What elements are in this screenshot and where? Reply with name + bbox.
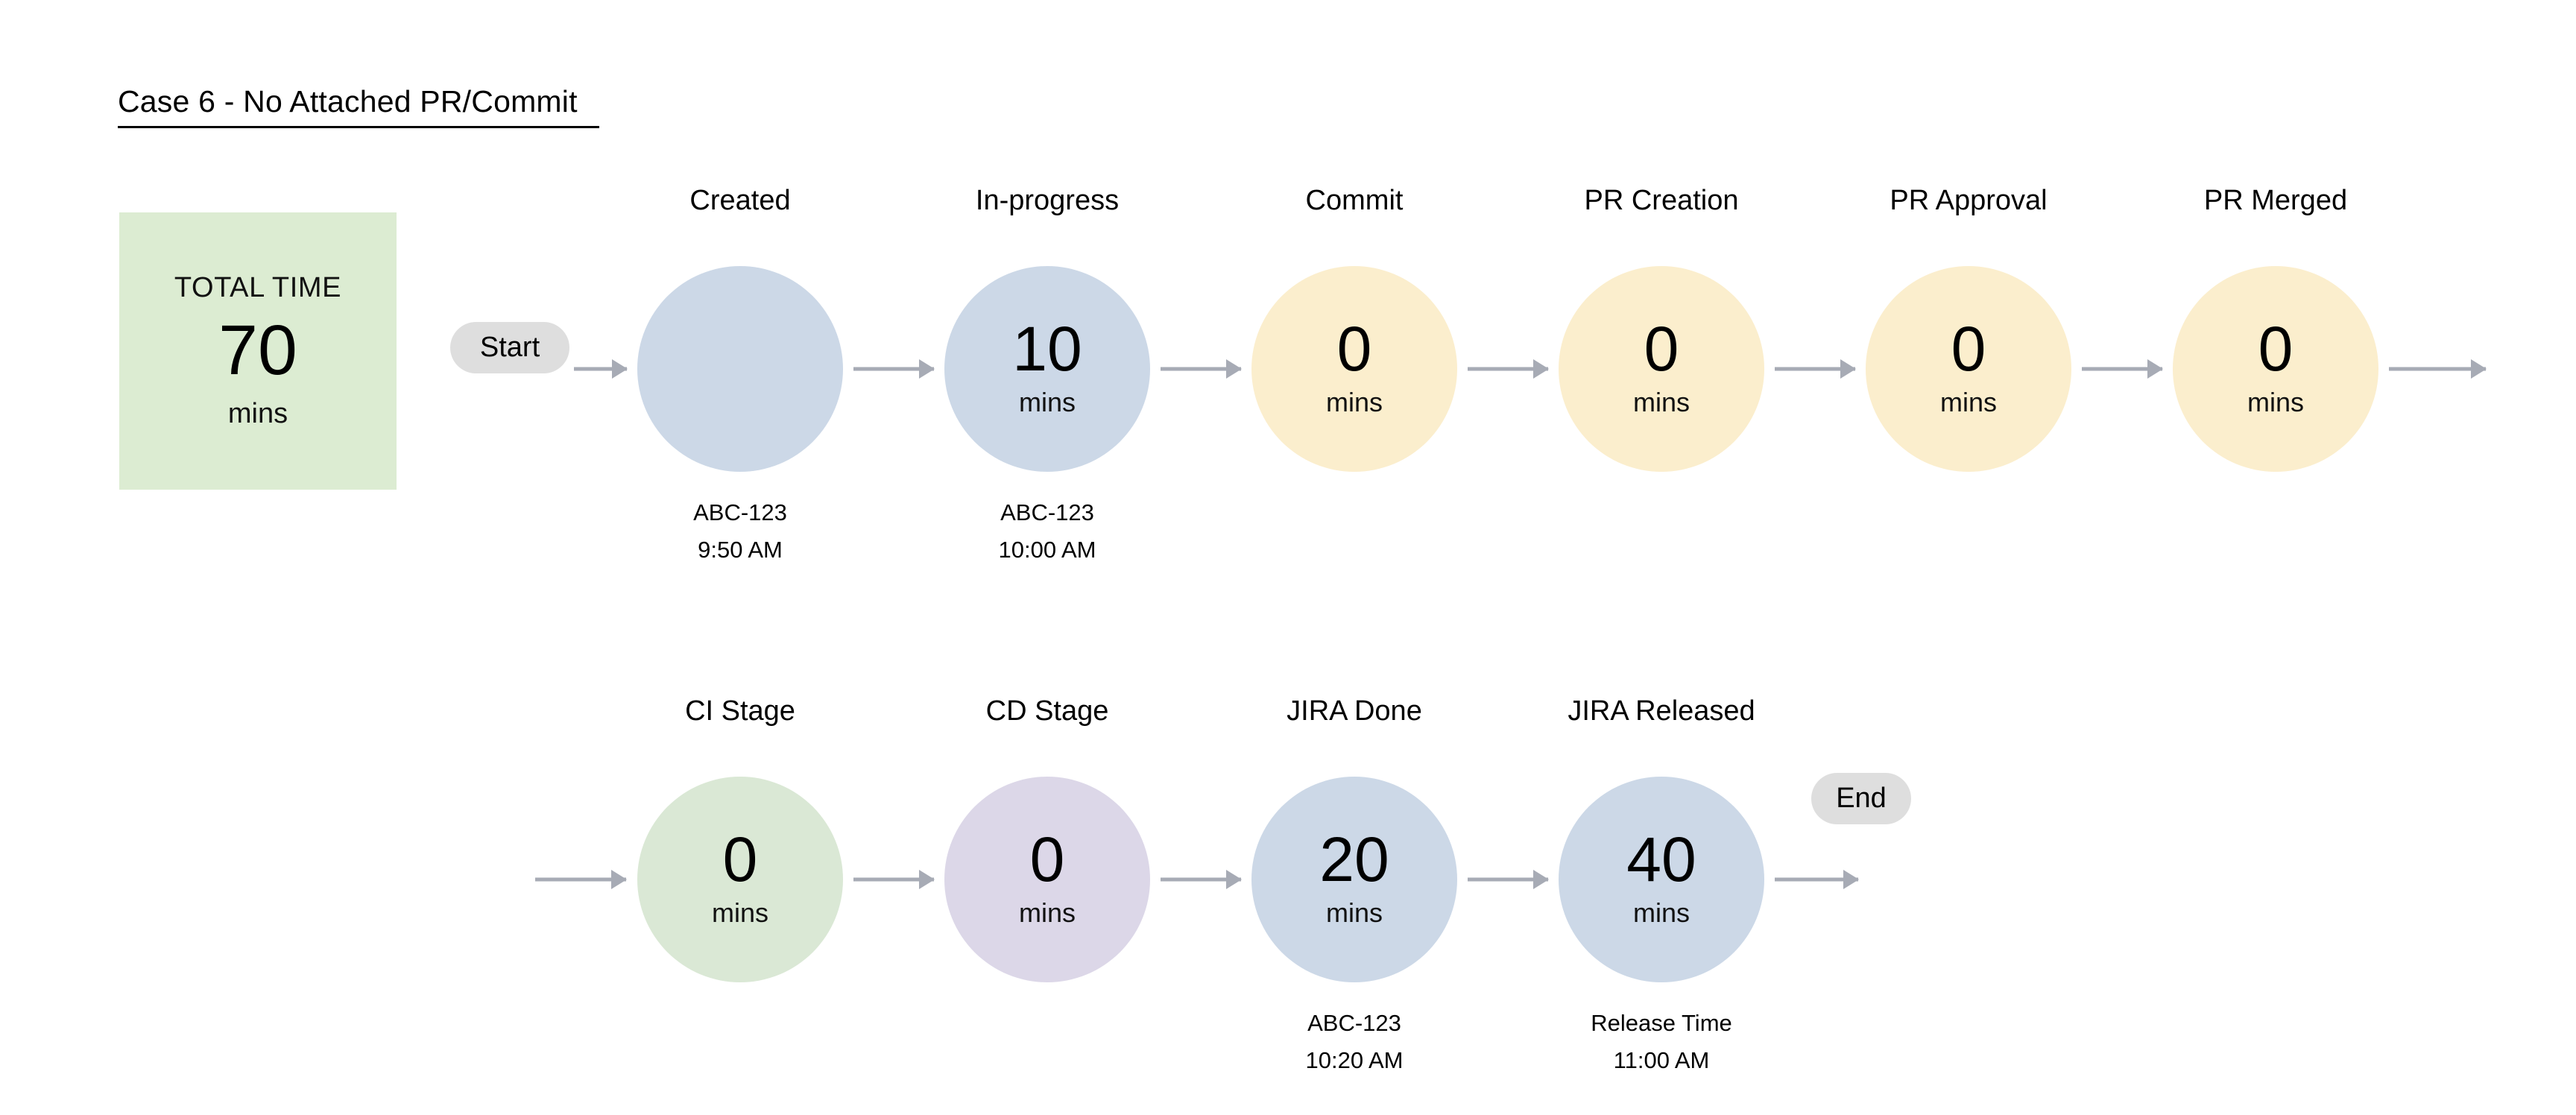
stage-node[interactable]: PR Approval0mins (1866, 266, 2071, 472)
end-connector-arrow (1775, 870, 1858, 889)
connector-arrow (853, 870, 934, 889)
stage-node-title: PR Approval (1890, 185, 2047, 217)
stage-node-title: Commit (1306, 185, 1404, 217)
stage-node[interactable]: In-progress10minsABC-12310:00 AM (944, 266, 1150, 472)
stage-node-bubble[interactable]: 40mins (1559, 777, 1764, 982)
stage-node-title: PR Merged (2204, 185, 2347, 217)
start-connector-arrow (574, 359, 627, 379)
arrow-head-icon (1533, 359, 1549, 379)
stage-node-duration-unit: mins (1326, 897, 1383, 929)
stage-node-caption-line: 10:00 AM (999, 531, 1096, 569)
row-wrap-entry-arrow (535, 870, 626, 889)
stage-node-duration-unit: mins (1633, 897, 1690, 929)
stage-node-duration-unit: mins (1019, 897, 1076, 929)
stage-node-duration-value: 0 (1030, 830, 1065, 890)
connector-arrow (2082, 359, 2162, 379)
stage-node-duration-value: 10 (1012, 320, 1082, 379)
stage-node-title: CD Stage (986, 695, 1109, 727)
row-wrap-exit-arrow (2389, 359, 2486, 379)
stage-node-bubble[interactable]: 0mins (1251, 266, 1457, 472)
stage-node-duration-unit: mins (712, 897, 768, 929)
stage-node-title: Created (689, 185, 790, 217)
stage-node[interactable]: Commit0mins (1251, 266, 1457, 472)
connector-arrow (1775, 359, 1855, 379)
stage-node-duration-value: 0 (1951, 320, 1986, 379)
stage-node-caption-line: 9:50 AM (693, 531, 787, 569)
arrow-head-icon (1533, 870, 1549, 889)
arrow-head-icon (2147, 359, 2163, 379)
arrow-head-icon (1226, 359, 1242, 379)
arrow-head-icon (1226, 870, 1242, 889)
stage-node[interactable]: CD Stage0mins (944, 777, 1150, 982)
stage-node-caption: Release Time11:00 AM (1591, 1005, 1732, 1079)
connector-arrow (853, 359, 934, 379)
stage-node-duration-value: 0 (1644, 320, 1679, 379)
stage-node-bubble[interactable]: 0mins (1866, 266, 2071, 472)
end-node[interactable]: End (1811, 773, 1911, 824)
stage-node-bubble[interactable]: 0mins (2173, 266, 2378, 472)
stage-node-caption: ABC-12310:20 AM (1306, 1005, 1404, 1079)
stage-node[interactable]: JIRA Released40minsRelease Time11:00 AM (1559, 777, 1764, 982)
connector-arrow (1468, 870, 1548, 889)
connector-arrow (1161, 870, 1241, 889)
stage-node-caption: ABC-12310:00 AM (999, 494, 1096, 569)
stage-node-caption-line: ABC-123 (1306, 1005, 1404, 1042)
stage-node-title: JIRA Released (1568, 695, 1755, 727)
stage-node[interactable]: PR Merged0mins (2173, 266, 2378, 472)
stage-node-bubble[interactable]: 10mins (944, 266, 1150, 472)
stage-node-duration-value: 0 (2258, 320, 2294, 379)
stage-node-title: CI Stage (685, 695, 795, 727)
stage-node-title: PR Creation (1585, 185, 1739, 217)
arrow-head-icon (919, 359, 935, 379)
stage-node-duration-unit: mins (1940, 387, 1997, 418)
stage-node-duration-unit: mins (1019, 387, 1076, 418)
stage-node[interactable]: JIRA Done20minsABC-12310:20 AM (1251, 777, 1457, 982)
arrow-head-icon (1843, 870, 1859, 889)
start-node[interactable]: Start (450, 322, 569, 373)
stage-node-bubble[interactable]: 0mins (637, 777, 843, 982)
diagram-canvas: Case 6 - No Attached PR/Commit TOTAL TIM… (0, 0, 2576, 1115)
stage-node-caption-line: 11:00 AM (1591, 1042, 1732, 1079)
stage-node-bubble[interactable]: 0mins (1559, 266, 1764, 472)
arrow-head-icon (2471, 359, 2487, 379)
stage-node-duration-unit: mins (1633, 387, 1690, 418)
stage-node-caption-line: ABC-123 (999, 494, 1096, 531)
stage-node-caption-line: ABC-123 (693, 494, 787, 531)
total-time-label: TOTAL TIME (174, 272, 341, 304)
stage-node-duration-value: 0 (723, 830, 758, 890)
stage-node[interactable]: CreatedABC-1239:50 AM (637, 266, 843, 472)
stage-node-duration-unit: mins (2247, 387, 2304, 418)
connector-arrow (1468, 359, 1548, 379)
arrow-head-icon (919, 870, 935, 889)
connector-arrow (1161, 359, 1241, 379)
stage-node[interactable]: CI Stage0mins (637, 777, 843, 982)
stage-node-caption-line: Release Time (1591, 1005, 1732, 1042)
stage-node-title: JIRA Done (1287, 695, 1422, 727)
page-title: Case 6 - No Attached PR/Commit (118, 84, 578, 119)
total-time-value: 70 (218, 312, 297, 390)
stage-node-duration-value: 20 (1319, 830, 1389, 890)
total-time-unit: mins (228, 398, 288, 430)
stage-node-title: In-progress (976, 185, 1119, 217)
title-underline (118, 126, 599, 128)
stage-node-bubble[interactable] (637, 266, 843, 472)
stage-node-bubble[interactable]: 20mins (1251, 777, 1457, 982)
arrow-head-icon (612, 359, 628, 379)
stage-node-caption-line: 10:20 AM (1306, 1042, 1404, 1079)
arrow-head-icon (1840, 359, 1856, 379)
stage-node-bubble[interactable]: 0mins (944, 777, 1150, 982)
stage-node[interactable]: PR Creation0mins (1559, 266, 1764, 472)
stage-node-duration-value: 0 (1337, 320, 1372, 379)
stage-node-caption: ABC-1239:50 AM (693, 494, 787, 569)
arrow-head-icon (611, 870, 627, 889)
stage-node-duration-value: 40 (1626, 830, 1696, 890)
total-time-box: TOTAL TIME 70 mins (119, 212, 397, 490)
stage-node-duration-unit: mins (1326, 387, 1383, 418)
